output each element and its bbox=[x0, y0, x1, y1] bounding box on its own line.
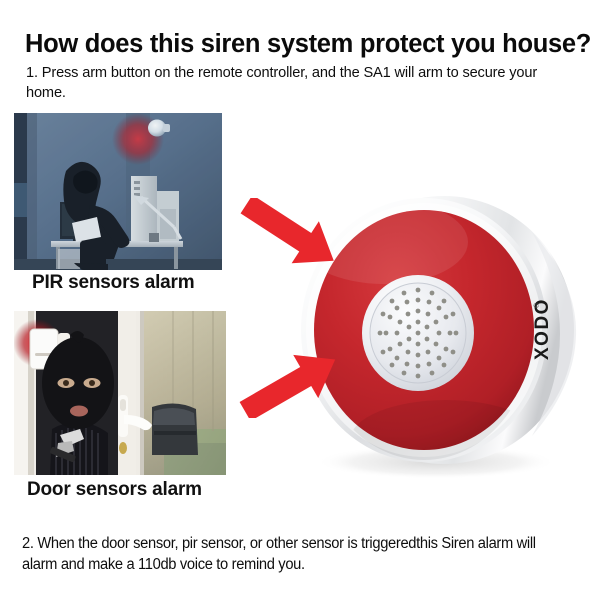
door-scene-illustration bbox=[14, 311, 226, 475]
step-two-text: 2. When the door sensor, pir sensor, or … bbox=[22, 533, 559, 575]
brand-mark: XODO ® bbox=[532, 298, 553, 360]
pir-scene-illustration bbox=[14, 113, 222, 270]
arrow-up-right-icon bbox=[236, 352, 346, 418]
photo-pir-sensors-alarm bbox=[14, 113, 222, 270]
page-title: How does this siren system protect you h… bbox=[25, 29, 585, 59]
arrow-bottom-pointing-to-siren bbox=[236, 352, 346, 418]
brand-registered-mark: ® bbox=[533, 302, 541, 308]
arrow-down-right-icon bbox=[236, 198, 346, 268]
caption-door-sensors-alarm: Door sensors alarm bbox=[27, 479, 202, 501]
siren-speaker-grille bbox=[362, 275, 474, 391]
step-one-text: 1. Press arm button on the remote contro… bbox=[26, 63, 578, 103]
caption-pir-sensors-alarm: PIR sensors alarm bbox=[32, 272, 194, 294]
photo-door-sensors-alarm bbox=[14, 311, 226, 475]
infographic-page: How does this siren system protect you h… bbox=[0, 0, 600, 600]
arrow-top-pointing-to-siren bbox=[236, 198, 346, 268]
